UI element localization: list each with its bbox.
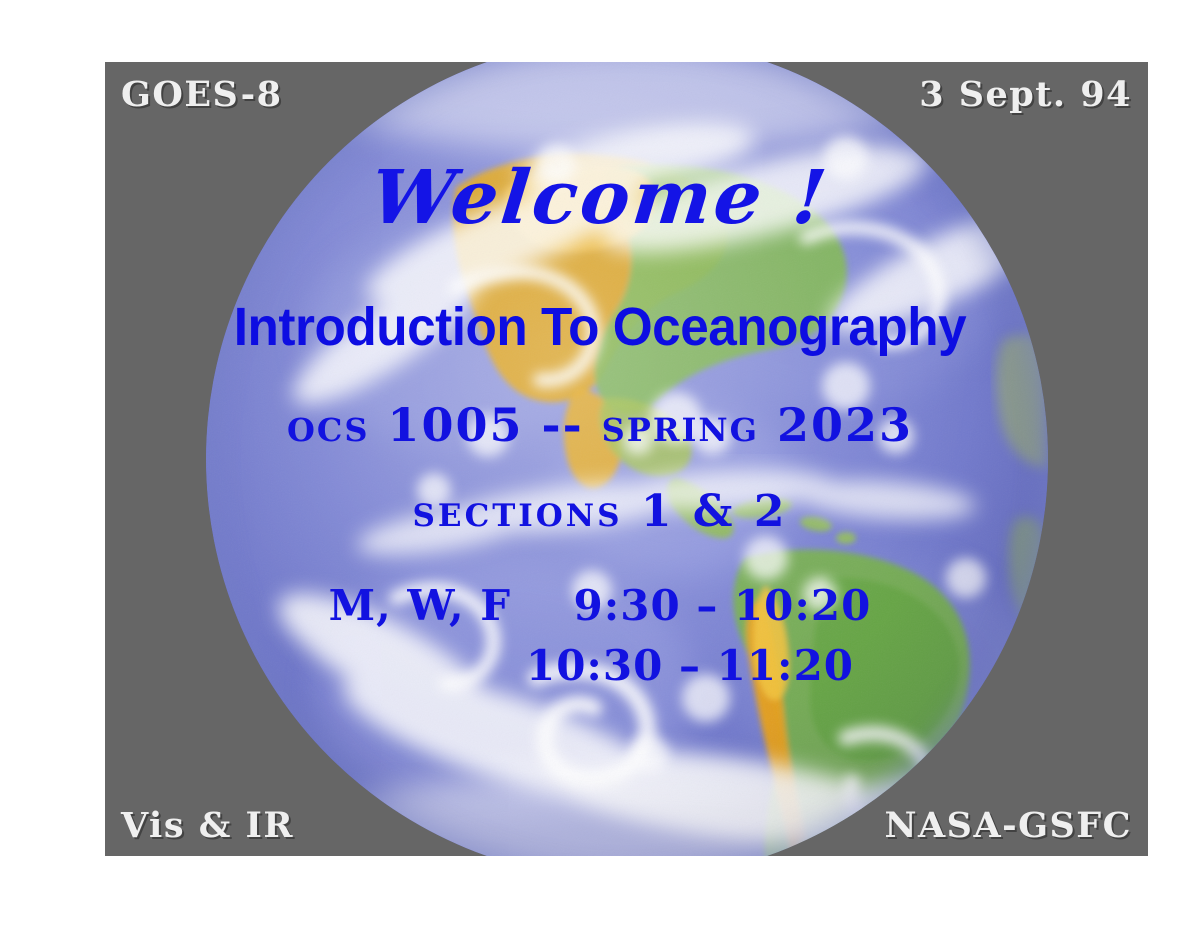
sections-label: Sections 1 & 2	[0, 486, 1200, 537]
caption-capture-date: 3 Sept. 94	[919, 74, 1132, 115]
course-code-and-term: OCS 1005 -- Spring 2023	[0, 398, 1200, 452]
meeting-time-row: M, W, F 9:30 – 10:20	[0, 576, 1200, 636]
meeting-time-row: 10:30 – 11:20	[180, 636, 1200, 696]
caption-credit: NASA-GSFC	[885, 805, 1132, 846]
welcome-heading: Welcome !	[0, 155, 1200, 241]
caption-sensor-channels: Vis & IR	[121, 805, 294, 846]
meeting-times: M, W, F 9:30 – 10:20 10:30 – 11:20	[0, 576, 1200, 696]
caption-satellite-name: GOES-8	[121, 74, 283, 115]
slide-canvas: GOES-8 3 Sept. 94 Vis & IR NASA-GSFC Wel…	[0, 0, 1200, 927]
course-title: Introduction To Oceanography	[30, 296, 1170, 358]
